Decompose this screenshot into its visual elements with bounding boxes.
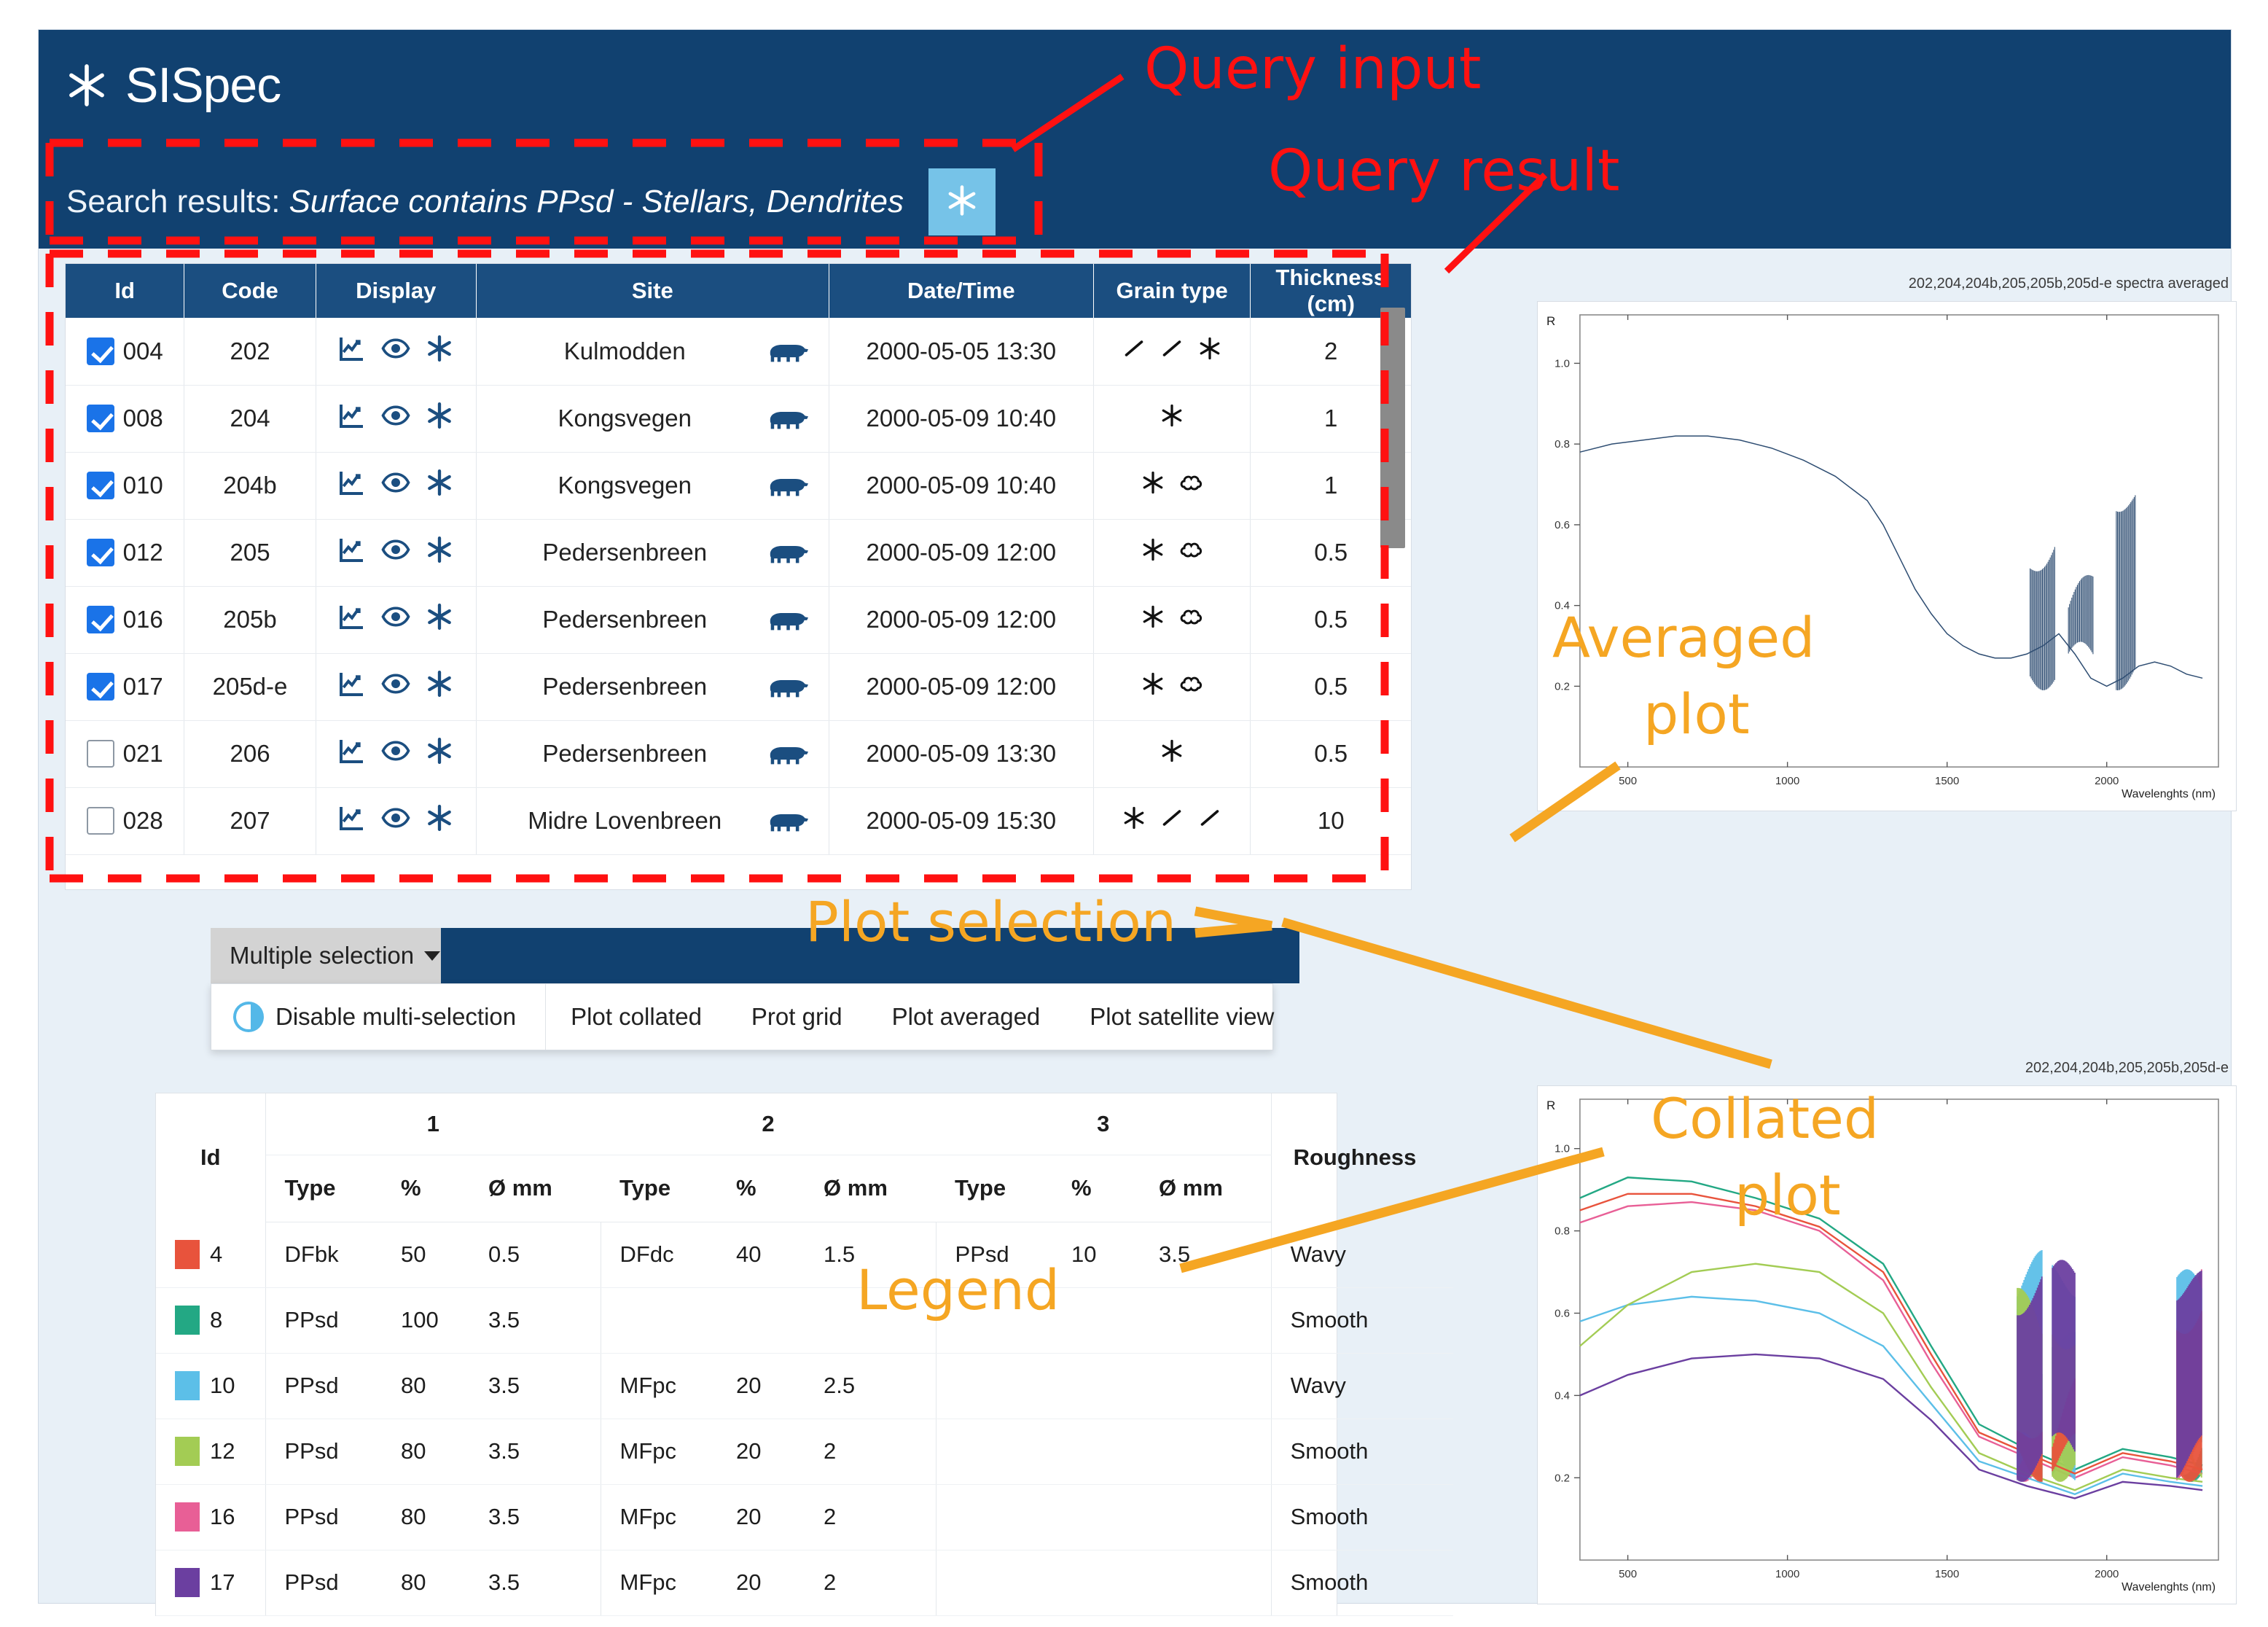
table-row[interactable]: 017205d-ePedersenbreen2000-05-09 12:000.… bbox=[66, 653, 1411, 720]
cell-display bbox=[316, 586, 476, 653]
cell-code: 207 bbox=[184, 787, 316, 854]
svg-text:1500: 1500 bbox=[1935, 775, 1959, 787]
cell-display bbox=[316, 653, 476, 720]
chart-icon[interactable] bbox=[337, 468, 367, 503]
legend-g2-1: 40 bbox=[717, 1222, 805, 1287]
results-table-header-row: Id Code Display Site Date/Time Grain typ… bbox=[66, 264, 1411, 318]
legend-g1-2: 3.5 bbox=[469, 1484, 601, 1550]
cell-thickness: 0.5 bbox=[1251, 720, 1411, 787]
svg-text:1.0: 1.0 bbox=[1555, 357, 1570, 370]
legend-subheader-type: Type bbox=[936, 1155, 1052, 1222]
svg-text:0.4: 0.4 bbox=[1555, 600, 1570, 612]
collated-plot-title: 202,204,204b,205,205b,205d-e bbox=[2025, 1060, 2229, 1077]
legend-g1-0: PPsd bbox=[265, 1550, 382, 1615]
row-checkbox[interactable] bbox=[87, 472, 114, 499]
grain-stellar-icon bbox=[1140, 604, 1166, 636]
row-checkbox[interactable] bbox=[87, 539, 114, 566]
polar-bear-icon bbox=[767, 338, 810, 364]
series-color-swatch bbox=[175, 1568, 200, 1597]
chevron-down-icon bbox=[424, 951, 440, 961]
legend-g3-2: 3.5 bbox=[1140, 1222, 1271, 1287]
eye-icon[interactable] bbox=[381, 602, 410, 637]
legend-g2-2: 2 bbox=[805, 1550, 936, 1615]
legend-g1-2: 3.5 bbox=[469, 1550, 601, 1615]
query-submit-button[interactable] bbox=[928, 168, 996, 235]
app-title: SISpec bbox=[125, 61, 281, 110]
cell-code: 204b bbox=[184, 452, 316, 519]
row-checkbox[interactable] bbox=[87, 807, 114, 835]
plot-selection-menu: Disable multi-selectionPlot collatedProt… bbox=[211, 983, 1273, 1050]
cell-display bbox=[316, 720, 476, 787]
legend-g1-1: 80 bbox=[382, 1550, 469, 1615]
legend-g2-1: 20 bbox=[717, 1353, 805, 1419]
menu-item-disable-multi-selection[interactable]: Disable multi-selection bbox=[211, 984, 546, 1050]
polar-bear-icon bbox=[767, 741, 810, 767]
snowflake-icon[interactable] bbox=[425, 669, 454, 704]
cell-display bbox=[316, 519, 476, 586]
legend-id-cell: 16 bbox=[156, 1484, 265, 1550]
row-id-label: 004 bbox=[123, 338, 163, 365]
cell-datetime: 2000-05-09 12:00 bbox=[829, 653, 1093, 720]
legend-header-id: Id bbox=[156, 1093, 265, 1222]
legend-g3-1 bbox=[1052, 1484, 1140, 1550]
legend-roughness: Smooth bbox=[1271, 1484, 1453, 1550]
legend-subheader-mm: Ø mm bbox=[1140, 1155, 1271, 1222]
cell-site: Pedersenbreen bbox=[476, 653, 829, 720]
cell-datetime: 2000-05-09 12:00 bbox=[829, 586, 1093, 653]
snowflake-icon[interactable] bbox=[425, 736, 454, 771]
legend-g2-0: DFdc bbox=[601, 1222, 717, 1287]
cell-graintype bbox=[1093, 385, 1251, 452]
legend-subheader-mm: Ø mm bbox=[469, 1155, 601, 1222]
eye-icon[interactable] bbox=[381, 535, 410, 570]
legend-g1-0: PPsd bbox=[265, 1287, 382, 1353]
legend-id-label: 10 bbox=[210, 1373, 235, 1399]
cell-code: 206 bbox=[184, 720, 316, 787]
column-header-code[interactable]: Code bbox=[184, 264, 316, 318]
cell-datetime: 2000-05-09 12:00 bbox=[829, 519, 1093, 586]
legend-g3-2 bbox=[1140, 1353, 1271, 1419]
svg-text:0.6: 0.6 bbox=[1555, 1307, 1570, 1319]
menu-item-label: Plot satellite view bbox=[1090, 1003, 1274, 1031]
eye-icon[interactable] bbox=[381, 669, 410, 704]
legend-g3-2 bbox=[1140, 1419, 1271, 1484]
grain-graupel-icon bbox=[1178, 604, 1204, 636]
search-results-label: Search results: bbox=[66, 184, 280, 220]
legend-id-label: 17 bbox=[210, 1569, 235, 1596]
svg-text:500: 500 bbox=[1619, 775, 1637, 787]
averaged-plot-panel[interactable]: 202,204,204b,205,205b,205d-e spectra ave… bbox=[1537, 301, 2237, 811]
chart-icon[interactable] bbox=[337, 803, 367, 838]
legend-roughness: Wavy bbox=[1271, 1222, 1453, 1287]
legend-g1-1: 100 bbox=[382, 1287, 469, 1353]
cell-graintype bbox=[1093, 318, 1251, 385]
cell-code: 205d-e bbox=[184, 653, 316, 720]
cell-site: Kongsvegen bbox=[476, 452, 829, 519]
legend-id-label: 16 bbox=[210, 1504, 235, 1530]
row-checkbox[interactable] bbox=[87, 338, 114, 365]
table-row[interactable]: 028207Midre Lovenbreen2000-05-09 15:3010 bbox=[66, 787, 1411, 854]
row-id-label: 021 bbox=[123, 740, 163, 768]
cell-thickness: 0.5 bbox=[1251, 586, 1411, 653]
cell-id: 028 bbox=[66, 787, 184, 854]
legend-group-3: 3 bbox=[936, 1093, 1271, 1155]
cell-id: 012 bbox=[66, 519, 184, 586]
table-row[interactable]: 010204bKongsvegen2000-05-09 10:401 bbox=[66, 452, 1411, 519]
legend-id-cell: 4 bbox=[156, 1222, 265, 1287]
cell-display bbox=[316, 787, 476, 854]
row-id-label: 016 bbox=[123, 606, 163, 633]
menu-item-label: Prot grid bbox=[751, 1003, 842, 1031]
legend-sub-header-row: Type%Ø mmType%Ø mmType%Ø mm bbox=[156, 1155, 1453, 1222]
legend-g1-0: PPsd bbox=[265, 1353, 382, 1419]
legend-group-header-row: Id 1 2 3 Roughness bbox=[156, 1093, 1453, 1155]
legend-g1-1: 80 bbox=[382, 1353, 469, 1419]
snowflake-icon bbox=[945, 184, 979, 221]
svg-text:1000: 1000 bbox=[1775, 1568, 1799, 1580]
legend-g2-2 bbox=[805, 1287, 936, 1353]
column-header-id[interactable]: Id bbox=[66, 264, 184, 318]
cell-display bbox=[316, 452, 476, 519]
list-item[interactable]: 17PPsd803.5MFpc202Smooth bbox=[156, 1550, 1453, 1615]
snowflake-icon[interactable] bbox=[425, 468, 454, 503]
cell-id: 017 bbox=[66, 653, 184, 720]
legend-g1-0: PPsd bbox=[265, 1419, 382, 1484]
eye-icon[interactable] bbox=[381, 401, 410, 436]
column-header-site[interactable]: Site bbox=[476, 264, 829, 318]
cell-datetime: 2000-05-05 13:30 bbox=[829, 318, 1093, 385]
grain-stellar-icon bbox=[1197, 335, 1223, 367]
cell-id: 010 bbox=[66, 452, 184, 519]
legend-g1-2: 3.5 bbox=[469, 1353, 601, 1419]
legend-subheader-: % bbox=[382, 1155, 469, 1222]
cell-code: 204 bbox=[184, 385, 316, 452]
snowflake-icon bbox=[64, 63, 109, 108]
cell-display bbox=[316, 318, 476, 385]
column-header-datetime[interactable]: Date/Time bbox=[829, 264, 1093, 318]
legend-g1-2: 3.5 bbox=[469, 1287, 601, 1353]
cell-datetime: 2000-05-09 10:40 bbox=[829, 452, 1093, 519]
legend-g2-2: 1.5 bbox=[805, 1222, 936, 1287]
app-header: SISpec Search results: Surface contains … bbox=[39, 30, 2231, 249]
cell-graintype bbox=[1093, 787, 1251, 854]
chart-icon[interactable] bbox=[337, 535, 367, 570]
legend-g1-1: 50 bbox=[382, 1222, 469, 1287]
svg-text:0.8: 0.8 bbox=[1555, 438, 1570, 450]
legend-g3-2 bbox=[1140, 1550, 1271, 1615]
legend-g1-2: 3.5 bbox=[469, 1419, 601, 1484]
grain-needle-icon bbox=[1159, 335, 1185, 367]
menu-item-label: Plot collated bbox=[571, 1003, 702, 1031]
legend-g3-0 bbox=[936, 1484, 1052, 1550]
svg-text:1.0: 1.0 bbox=[1555, 1143, 1570, 1155]
legend-g2-0: MFpc bbox=[601, 1419, 717, 1484]
site-name: Pedersenbreen bbox=[482, 539, 767, 566]
cell-site: Pedersenbreen bbox=[476, 720, 829, 787]
legend-g1-1: 80 bbox=[382, 1419, 469, 1484]
polar-bear-icon bbox=[767, 405, 810, 432]
query-results-panel: Id Code Display Site Date/Time Grain typ… bbox=[65, 263, 1412, 890]
menu-item-plot-satellite-view[interactable]: Plot satellite view bbox=[1065, 984, 1299, 1050]
legend-g2-1: 20 bbox=[717, 1550, 805, 1615]
menu-item-prot-grid[interactable]: Prot grid bbox=[727, 984, 867, 1050]
row-id-label: 012 bbox=[123, 539, 163, 566]
legend-id-label: 12 bbox=[210, 1438, 235, 1464]
eye-icon[interactable] bbox=[381, 736, 410, 771]
legend-roughness: Smooth bbox=[1271, 1550, 1453, 1615]
column-header-graintype[interactable]: Grain type bbox=[1093, 264, 1251, 318]
site-name: Pedersenbreen bbox=[482, 606, 767, 633]
series-color-swatch bbox=[175, 1306, 200, 1335]
row-id-label: 028 bbox=[123, 807, 163, 835]
chart-icon[interactable] bbox=[337, 669, 367, 704]
multiple-selection-label: Multiple selection bbox=[230, 942, 414, 969]
legend-table: Id 1 2 3 Roughness Type%Ø mmType%Ø mmTyp… bbox=[156, 1093, 1453, 1616]
legend-subheader-type: Type bbox=[265, 1155, 382, 1222]
collated-plot-panel[interactable]: 202,204,204b,205,205b,205d-e 50010001500… bbox=[1537, 1085, 2237, 1604]
site-name: Kulmodden bbox=[482, 338, 767, 365]
chart-icon[interactable] bbox=[337, 602, 367, 637]
cell-code: 202 bbox=[184, 318, 316, 385]
legend-group-2: 2 bbox=[601, 1093, 936, 1155]
legend-g3-0 bbox=[936, 1419, 1052, 1484]
legend-g1-0: DFbk bbox=[265, 1222, 382, 1287]
multiple-selection-dropdown[interactable]: Multiple selection bbox=[211, 928, 441, 983]
site-name: Kongsvegen bbox=[482, 472, 767, 499]
cell-thickness: 0.5 bbox=[1251, 653, 1411, 720]
svg-text:0.2: 0.2 bbox=[1555, 680, 1570, 692]
table-row[interactable]: 012205Pedersenbreen2000-05-09 12:000.5 bbox=[66, 519, 1411, 586]
grain-needle-icon bbox=[1159, 805, 1185, 837]
grain-stellar-icon bbox=[1140, 469, 1166, 502]
grain-graupel-icon bbox=[1178, 469, 1204, 502]
menu-item-plot-collated[interactable]: Plot collated bbox=[546, 984, 727, 1050]
legend-roughness: Wavy bbox=[1271, 1353, 1453, 1419]
cell-datetime: 2000-05-09 15:30 bbox=[829, 787, 1093, 854]
legend-g2-2: 2.5 bbox=[805, 1353, 936, 1419]
row-checkbox[interactable] bbox=[87, 740, 114, 768]
row-checkbox[interactable] bbox=[87, 606, 114, 633]
series-color-swatch bbox=[175, 1437, 200, 1466]
legend-id-cell: 8 bbox=[156, 1287, 265, 1353]
grain-graupel-icon bbox=[1178, 537, 1204, 569]
legend-g3-0: PPsd bbox=[936, 1222, 1052, 1287]
legend-g2-1: 20 bbox=[717, 1419, 805, 1484]
results-scrollbar-thumb[interactable] bbox=[1380, 308, 1405, 548]
cell-graintype bbox=[1093, 586, 1251, 653]
legend-subheader-type: Type bbox=[601, 1155, 717, 1222]
legend-g3-0 bbox=[936, 1353, 1052, 1419]
site-name: Midre Lovenbreen bbox=[482, 807, 767, 835]
search-term: PPsd - Stellars, Dendrites bbox=[536, 184, 904, 220]
svg-text:2000: 2000 bbox=[2095, 1568, 2119, 1580]
snowflake-icon[interactable] bbox=[425, 602, 454, 637]
legend-subheader-: % bbox=[717, 1155, 805, 1222]
svg-text:2000: 2000 bbox=[2095, 775, 2119, 787]
legend-g2-0 bbox=[601, 1287, 717, 1353]
cell-site: Pedersenbreen bbox=[476, 519, 829, 586]
legend-roughness: Smooth bbox=[1271, 1419, 1453, 1484]
legend-g3-0 bbox=[936, 1550, 1052, 1615]
cell-code: 205 bbox=[184, 519, 316, 586]
search-bar: Search results: Surface contains PPsd - … bbox=[66, 168, 996, 235]
cell-graintype bbox=[1093, 653, 1251, 720]
table-row[interactable]: 016205bPedersenbreen2000-05-09 12:000.5 bbox=[66, 586, 1411, 653]
legend-subheader-mm: Ø mm bbox=[805, 1155, 936, 1222]
series-color-swatch bbox=[175, 1371, 200, 1400]
list-item[interactable]: 12PPsd803.5MFpc202Smooth bbox=[156, 1419, 1453, 1484]
legend-id-cell: 10 bbox=[156, 1353, 265, 1419]
legend-g1-0: PPsd bbox=[265, 1484, 382, 1550]
snowflake-icon[interactable] bbox=[425, 803, 454, 838]
results-table: Id Code Display Site Date/Time Grain typ… bbox=[66, 264, 1411, 855]
chart-icon[interactable] bbox=[337, 736, 367, 771]
legend-group-1: 1 bbox=[265, 1093, 601, 1155]
collated-plot-canvas: 5001000150020000.20.40.60.81.0RWavelengh… bbox=[1538, 1086, 2236, 1604]
averaged-plot-canvas: 5001000150020000.20.40.60.81.0RWavelengh… bbox=[1538, 302, 2236, 811]
row-checkbox[interactable] bbox=[87, 673, 114, 701]
svg-text:Wavelenghts (nm): Wavelenghts (nm) bbox=[2122, 1581, 2216, 1593]
legend-g3-2 bbox=[1140, 1287, 1271, 1353]
menu-item-plot-averaged[interactable]: Plot averaged bbox=[867, 984, 1065, 1050]
legend-g2-2: 2 bbox=[805, 1419, 936, 1484]
row-id-label: 010 bbox=[123, 472, 163, 499]
table-row[interactable]: 021206Pedersenbreen2000-05-09 13:300.5 bbox=[66, 720, 1411, 787]
grain-graupel-icon bbox=[1178, 671, 1204, 703]
svg-text:Wavelenghts (nm): Wavelenghts (nm) bbox=[2122, 788, 2216, 800]
svg-text:0.8: 0.8 bbox=[1555, 1225, 1570, 1238]
cell-site: Kongsvegen bbox=[476, 385, 829, 452]
eye-icon[interactable] bbox=[381, 803, 410, 838]
cell-id: 021 bbox=[66, 720, 184, 787]
cell-id: 016 bbox=[66, 586, 184, 653]
legend-g3-1 bbox=[1052, 1550, 1140, 1615]
list-item[interactable]: 8PPsd1003.5Smooth bbox=[156, 1287, 1453, 1353]
cell-site: Kulmodden bbox=[476, 318, 829, 385]
chart-icon[interactable] bbox=[337, 401, 367, 436]
site-name: Pedersenbreen bbox=[482, 740, 767, 768]
svg-text:0.6: 0.6 bbox=[1555, 519, 1570, 531]
legend-id-cell: 12 bbox=[156, 1419, 265, 1484]
legend-g3-0 bbox=[936, 1287, 1052, 1353]
column-header-display[interactable]: Display bbox=[316, 264, 476, 318]
legend-g3-1 bbox=[1052, 1419, 1140, 1484]
cell-graintype bbox=[1093, 452, 1251, 519]
legend-g3-1 bbox=[1052, 1287, 1140, 1353]
row-id-label: 017 bbox=[123, 673, 163, 701]
table-row[interactable]: 004202Kulmodden2000-05-05 13:302 bbox=[66, 318, 1411, 385]
legend-g3-1: 10 bbox=[1052, 1222, 1140, 1287]
grain-needle-icon bbox=[1121, 335, 1147, 367]
legend-roughness: Smooth bbox=[1271, 1287, 1453, 1353]
legend-subheader-: % bbox=[1052, 1155, 1140, 1222]
cell-id: 008 bbox=[66, 385, 184, 452]
menu-item-label: Plot averaged bbox=[892, 1003, 1041, 1031]
list-item[interactable]: 4DFbk500.5DFdc401.5PPsd103.5Wavy bbox=[156, 1222, 1453, 1287]
snowflake-icon[interactable] bbox=[425, 535, 454, 570]
brand: SISpec bbox=[64, 61, 281, 110]
multi-selection-toggle[interactable] bbox=[233, 1002, 264, 1032]
legend-g2-2: 2 bbox=[805, 1484, 936, 1550]
svg-text:1500: 1500 bbox=[1935, 1568, 1959, 1580]
row-checkbox[interactable] bbox=[87, 405, 114, 432]
legend-g2-0: MFpc bbox=[601, 1353, 717, 1419]
legend-g2-0: MFpc bbox=[601, 1550, 717, 1615]
cell-graintype bbox=[1093, 720, 1251, 787]
snowflake-icon[interactable] bbox=[425, 401, 454, 436]
list-item[interactable]: 16PPsd803.5MFpc202Smooth bbox=[156, 1484, 1453, 1550]
snowflake-icon[interactable] bbox=[425, 334, 454, 369]
legend-panel: Id 1 2 3 Roughness Type%Ø mmType%Ø mmTyp… bbox=[155, 1093, 1337, 1616]
legend-header-roughness: Roughness bbox=[1271, 1093, 1453, 1222]
cell-id: 004 bbox=[66, 318, 184, 385]
cell-site: Midre Lovenbreen bbox=[476, 787, 829, 854]
grain-stellar-icon bbox=[1159, 738, 1185, 770]
legend-g2-0: MFpc bbox=[601, 1484, 717, 1550]
polar-bear-icon bbox=[767, 472, 810, 499]
results-table-body: 004202Kulmodden2000-05-05 13:302008204Ko… bbox=[66, 318, 1411, 854]
legend-g1-1: 80 bbox=[382, 1484, 469, 1550]
site-name: Pedersenbreen bbox=[482, 673, 767, 701]
table-row[interactable]: 008204Kongsvegen2000-05-09 10:401 bbox=[66, 385, 1411, 452]
legend-id-cell: 17 bbox=[156, 1550, 265, 1615]
legend-g1-2: 0.5 bbox=[469, 1222, 601, 1287]
site-name: Kongsvegen bbox=[482, 405, 767, 432]
cell-graintype bbox=[1093, 519, 1251, 586]
menu-item-label: Disable multi-selection bbox=[275, 1003, 516, 1031]
series-color-swatch bbox=[175, 1240, 200, 1269]
grain-stellar-icon bbox=[1121, 805, 1147, 837]
grain-stellar-icon bbox=[1159, 402, 1185, 434]
svg-text:500: 500 bbox=[1619, 1568, 1637, 1580]
grain-stellar-icon bbox=[1140, 537, 1166, 569]
sispec-app: SISpec Search results: Surface contains … bbox=[38, 29, 2232, 1604]
averaged-plot-title: 202,204,204b,205,205b,205d-e spectra ave… bbox=[1909, 276, 2229, 292]
legend-table-body: 4DFbk500.5DFdc401.5PPsd103.5Wavy8PPsd100… bbox=[156, 1222, 1453, 1615]
eye-icon[interactable] bbox=[381, 468, 410, 503]
cell-thickness: 10 bbox=[1251, 787, 1411, 854]
cell-display bbox=[316, 385, 476, 452]
grain-needle-icon bbox=[1197, 805, 1223, 837]
cell-datetime: 2000-05-09 13:30 bbox=[829, 720, 1093, 787]
cell-datetime: 2000-05-09 10:40 bbox=[829, 385, 1093, 452]
legend-g2-1: 20 bbox=[717, 1484, 805, 1550]
search-criterion: Surface contains bbox=[289, 184, 528, 220]
cell-code: 205b bbox=[184, 586, 316, 653]
legend-id-label: 8 bbox=[210, 1307, 222, 1333]
chart-icon[interactable] bbox=[337, 334, 367, 369]
svg-text:0.2: 0.2 bbox=[1555, 1472, 1570, 1484]
svg-text:R: R bbox=[1546, 314, 1555, 328]
eye-icon[interactable] bbox=[381, 334, 410, 369]
legend-g3-1 bbox=[1052, 1353, 1140, 1419]
svg-text:R: R bbox=[1546, 1099, 1555, 1112]
cell-site: Pedersenbreen bbox=[476, 586, 829, 653]
legend-g3-2 bbox=[1140, 1484, 1271, 1550]
svg-text:1000: 1000 bbox=[1775, 775, 1799, 787]
row-id-label: 008 bbox=[123, 405, 163, 432]
svg-text:0.4: 0.4 bbox=[1555, 1389, 1570, 1402]
polar-bear-icon bbox=[767, 808, 810, 834]
legend-id-label: 4 bbox=[210, 1241, 222, 1268]
series-color-swatch bbox=[175, 1502, 200, 1532]
legend-g2-1 bbox=[717, 1287, 805, 1353]
polar-bear-icon bbox=[767, 674, 810, 700]
list-item[interactable]: 10PPsd803.5MFpc202.5Wavy bbox=[156, 1353, 1453, 1419]
polar-bear-icon bbox=[767, 539, 810, 566]
plot-selection-toolbar: Multiple selection bbox=[211, 928, 1299, 983]
grain-stellar-icon bbox=[1140, 671, 1166, 703]
